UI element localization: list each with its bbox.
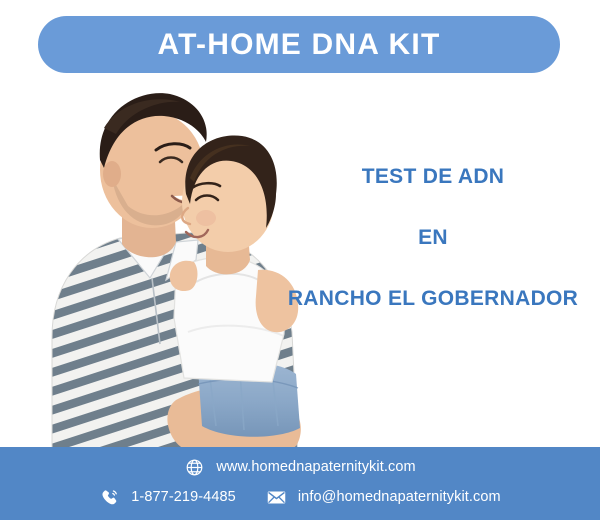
phone-item[interactable]: 1-877-219-4485 [99, 487, 236, 508]
header-banner: AT-HOME DNA KIT [38, 16, 560, 73]
footer-website-row: www.homednapaternitykit.com [0, 457, 600, 478]
phone-text: 1-877-219-4485 [131, 490, 236, 505]
email-item[interactable]: info@homednapaternitykit.com [266, 487, 501, 508]
footer-contact-bar: www.homednapaternitykit.com 1-877-219-44… [0, 447, 600, 520]
website-item[interactable]: www.homednapaternitykit.com [184, 457, 415, 478]
page-title: AT-HOME DNA KIT [158, 30, 441, 60]
globe-icon [184, 457, 205, 478]
headline-line-3: RANCHO EL GOBERNADOR [266, 288, 600, 309]
envelope-icon [266, 487, 287, 508]
footer-contact-row: 1-877-219-4485 info@homednapaternitykit.… [0, 487, 600, 508]
poster-canvas: AT-HOME DNA KIT [0, 0, 600, 520]
headline-line-2: EN [266, 227, 600, 248]
email-text: info@homednapaternitykit.com [298, 490, 501, 505]
headline-line-1: TEST DE ADN [266, 166, 600, 187]
phone-icon [99, 487, 120, 508]
headline-block: TEST DE ADN EN RANCHO EL GOBERNADOR [266, 160, 600, 309]
website-text: www.homednapaternitykit.com [216, 460, 415, 475]
